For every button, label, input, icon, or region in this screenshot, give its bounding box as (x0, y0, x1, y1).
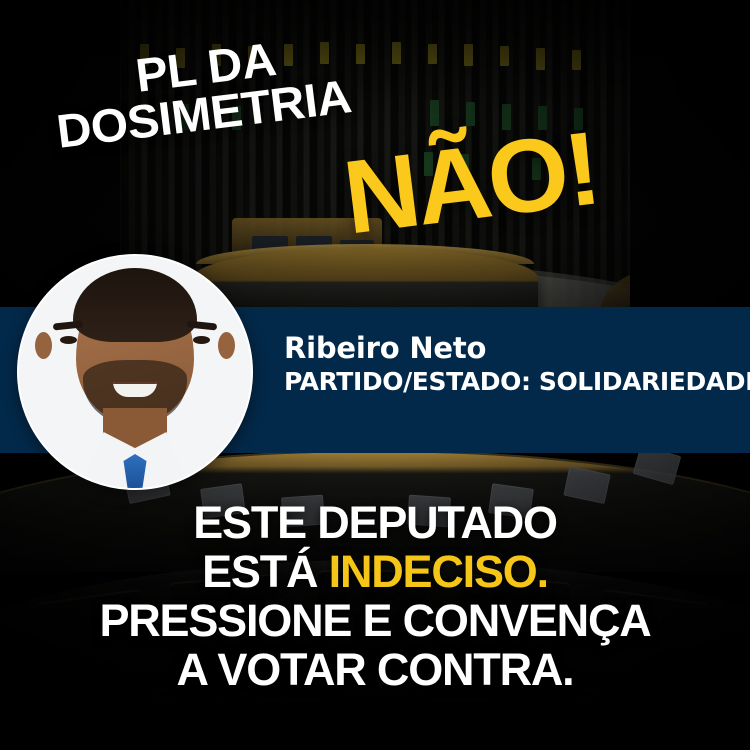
deputy-photo-avatar (17, 254, 253, 490)
avatar-hair (73, 268, 197, 342)
campaign-poster: PL DA DOSIMETRIA NÃO! Ribeiro Neto PARTI… (0, 0, 750, 750)
deputy-name-banner-text: Ribeiro Neto PARTIDO/ESTADO: SOLIDARIEDA… (284, 330, 750, 399)
avatar-lapel-pin (202, 465, 211, 474)
avatar-ear-left (35, 332, 52, 359)
avatar-eye-left (60, 336, 77, 344)
deputy-party-state: PARTIDO/ESTADO: SOLIDARIEDADE (284, 366, 750, 399)
deputy-name: Ribeiro Neto (284, 330, 750, 366)
avatar-ear-right (218, 332, 235, 359)
avatar-eye-right (193, 336, 210, 344)
